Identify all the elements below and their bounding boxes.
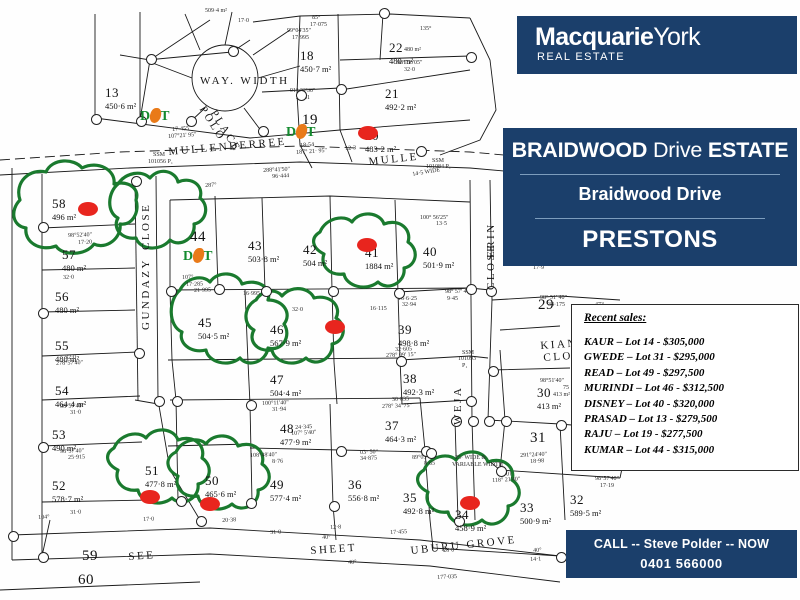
dimension-annotation: 14·1 — [530, 556, 541, 563]
survey-node — [146, 54, 157, 65]
survey-node — [131, 176, 142, 187]
estate-name-part3: ESTATE — [708, 138, 788, 162]
dimension-annotation: 17·20 — [78, 240, 92, 246]
survey-node — [166, 286, 177, 297]
estate-marketing-flyer: 99°04'35"17·99598° 56'05"32·091° 22'30"2… — [0, 0, 800, 600]
dimension-annotation: 104° — [38, 514, 50, 521]
dimension-annotation: 16·995 — [243, 291, 260, 297]
survey-node — [466, 52, 477, 63]
logo-york: York — [653, 23, 700, 51]
dimension-annotation: 21·995 — [194, 287, 211, 294]
street-label: CLOSE — [140, 203, 152, 250]
dimension-annotation: 32·94 — [402, 302, 416, 308]
dimension-annotation: 12·3 — [345, 145, 356, 152]
agency-logo: MacquarieYork REAL ESTATE — [517, 16, 797, 74]
dimension-annotation: 135° — [420, 26, 431, 32]
survey-node — [38, 442, 49, 453]
dimension-annotation: 16·115 — [370, 306, 387, 312]
recent-sale-row: PRASAD – Lot 13 - $279,500 — [584, 412, 794, 427]
agency-logo-subtitle: REAL ESTATE — [537, 51, 625, 63]
dimension-annotation: 17·0 — [143, 516, 154, 523]
dimension-annotation: 98°52'40" — [68, 232, 92, 239]
street-label: CLOSE — [485, 243, 497, 290]
estate-street: Braidwood Drive — [503, 184, 797, 205]
dimension-annotation: 34·175 — [548, 302, 565, 308]
dimension-annotation: 85° — [312, 15, 320, 21]
dimension-annotation: 40° — [348, 560, 357, 566]
survey-node — [261, 286, 272, 297]
survey-node — [466, 284, 477, 295]
dimension-annotation: 32·0 — [404, 67, 415, 73]
logo-macquarie: Macquarie — [535, 23, 653, 51]
dimension-annotation: 413 m² — [553, 392, 570, 398]
recent-sale-row: READ – Lot 49 - $297,500 — [584, 366, 794, 381]
survey-node — [38, 308, 49, 319]
recent-sale-row: KAUR – Lot 14 - $305,000 — [584, 335, 794, 350]
sold-dot-marker — [358, 126, 378, 140]
contact-agent-line: CALL -- Steve Polder -- NOW — [566, 537, 797, 551]
dimension-annotation: 98°51'40" — [540, 378, 564, 384]
dimension-annotation: 17·995 — [292, 35, 309, 41]
deposit-stamp: DT — [286, 124, 316, 141]
dimension-annotation: 18·98 — [530, 458, 544, 465]
street-label: WEJA — [452, 386, 464, 425]
agency-logo-text: MacquarieYork — [535, 23, 700, 52]
survey-node — [329, 501, 340, 512]
street-label: WAY. WIDTH — [200, 75, 290, 87]
survey-node — [246, 498, 257, 509]
survey-node — [172, 396, 183, 407]
dimension-annotation: 31·0 — [70, 410, 81, 416]
survey-node — [214, 284, 225, 295]
survey-node — [556, 420, 567, 431]
dimension-annotation: 98° 56'05" — [397, 60, 422, 66]
survey-node — [328, 286, 339, 297]
dimension-annotation: 31·94 — [272, 407, 286, 413]
survey-node — [466, 396, 477, 407]
survey-node — [91, 114, 102, 125]
dimension-annotation: 99°04'35" — [287, 28, 311, 34]
deposit-stamp: DT — [140, 108, 170, 125]
contact-banner[interactable]: CALL -- Steve Polder -- NOW 0401 566000 — [566, 530, 797, 578]
dimension-annotation: 25·915 — [68, 454, 85, 461]
dimension-annotation: 509·4 m² — [205, 8, 227, 14]
dimension-annotation: 13·5 — [436, 221, 447, 227]
sold-dot-marker — [460, 496, 480, 510]
estate-suburb: PRESTONS — [503, 226, 797, 254]
survey-node — [296, 90, 307, 101]
deposit-stamp: DT — [183, 248, 213, 265]
survey-node — [186, 116, 197, 127]
dimension-annotation: 32·0 — [292, 307, 303, 313]
dimension-annotation: 98° 51' 40" — [540, 295, 567, 301]
title-divider-2 — [535, 218, 765, 219]
dimension-annotation: 287° — [205, 182, 217, 189]
survey-node — [394, 288, 405, 299]
survey-node — [396, 356, 407, 367]
recent-sale-row: DISNEY – Lot 40 - $320,000 — [584, 397, 794, 412]
survey-node — [196, 516, 207, 527]
survey-node — [246, 400, 257, 411]
dimension-annotation: 30·835 — [392, 396, 409, 403]
dimension-annotation: 31·0 — [70, 509, 81, 516]
recent-sale-row: RAJU – Lot 19 - $277,500 — [584, 427, 794, 442]
recent-sale-row: KUMAR – Lot 44 - $315,000 — [584, 443, 794, 458]
subdivision-map: 99°04'35"17·99598° 56'05"32·091° 22'30"2… — [0, 0, 800, 600]
dimension-annotation: 177·035 — [437, 574, 457, 581]
dimension-annotation: 107° — [182, 275, 194, 281]
dimension-annotation: 17·075 — [310, 22, 327, 28]
dimension-annotation: 75 — [563, 385, 569, 391]
dimension-annotation: 17·455 — [390, 529, 407, 536]
dimension-annotation: 480 m² — [404, 47, 421, 53]
survey-node — [496, 466, 507, 477]
survey-node — [426, 448, 437, 459]
dimension-annotation: 17·0 — [238, 18, 249, 24]
sold-dot-marker — [200, 497, 220, 511]
recent-sale-row: MURINDI – Lot 46 - $312,500 — [584, 381, 794, 396]
survey-node — [336, 446, 347, 457]
recent-sales-box: Recent sales: KAUR – Lot 14 - $305,000GW… — [571, 304, 799, 471]
dimension-annotation: 101056 P₁ — [148, 159, 173, 165]
contact-phone[interactable]: 0401 566000 — [566, 556, 797, 571]
street-label: SEE — [128, 549, 156, 563]
dimension-annotation: 9·45 — [447, 296, 458, 302]
dimension-annotation: P₁ — [462, 363, 467, 369]
estate-title-panel: BRAIDWOOD Drive ESTATE Braidwood Drive P… — [503, 128, 797, 266]
survey-node — [488, 366, 499, 377]
recent-sale-row: GWEDE – Lot 31 - $295,000 — [584, 350, 794, 365]
dimension-annotation: 32·0 — [65, 355, 76, 361]
estate-name-part2: Drive — [653, 138, 708, 162]
survey-node — [134, 348, 145, 359]
survey-node — [38, 222, 49, 233]
sold-dot-marker — [325, 320, 345, 334]
survey-node — [454, 516, 465, 527]
survey-node — [258, 126, 269, 137]
sold-dot-marker — [140, 490, 160, 504]
dimension-annotation: 98°57'40" — [595, 476, 619, 482]
dimension-annotation: 34·875 — [360, 455, 377, 462]
dimension-annotation: 20·38 — [222, 517, 236, 524]
title-divider-1 — [520, 174, 780, 175]
dimension-annotation: 96·444 — [272, 173, 289, 180]
estate-name-part1: BRAIDWOOD — [512, 138, 653, 162]
survey-node — [501, 416, 512, 427]
dimension-annotation: 278°57'40" — [56, 360, 83, 367]
dimension-annotation: 278° 34' 75" — [382, 403, 412, 410]
street-label: GUNDAZY — [140, 258, 152, 330]
dimension-annotation: 8·76 — [272, 459, 283, 465]
dimension-annotation: 17·19 — [600, 483, 614, 489]
dimension-annotation: 31·0 — [270, 529, 281, 536]
dimension-annotation: 40° — [533, 548, 542, 554]
survey-node — [228, 46, 239, 57]
dimension-annotation: 32·0 — [63, 275, 74, 281]
sold-dot-marker — [357, 238, 377, 252]
survey-node — [484, 416, 495, 427]
dimension-annotation: 25· WIDE & — [455, 455, 486, 461]
dimension-annotation: 40° — [322, 535, 331, 541]
sold-dot-marker — [78, 202, 98, 216]
dimension-annotation: 101093 — [458, 356, 476, 362]
dimension-annotation: 8·65 — [424, 461, 435, 467]
survey-node — [379, 8, 390, 19]
survey-node — [468, 416, 479, 427]
recent-sales-list: KAUR – Lot 14 - $305,000GWEDE – Lot 31 -… — [584, 335, 794, 458]
survey-node — [336, 84, 347, 95]
survey-node — [154, 396, 165, 407]
dimension-annotation: 12·8 — [330, 524, 341, 531]
dimension-annotation: SSM — [153, 152, 165, 158]
survey-node — [176, 496, 187, 507]
survey-node — [38, 552, 49, 563]
recent-sales-heading: Recent sales: — [584, 312, 646, 324]
survey-node — [8, 531, 19, 542]
dimension-annotation: VARIABLE WIDTH — [452, 462, 503, 468]
estate-name: BRAIDWOOD Drive ESTATE — [503, 138, 797, 163]
